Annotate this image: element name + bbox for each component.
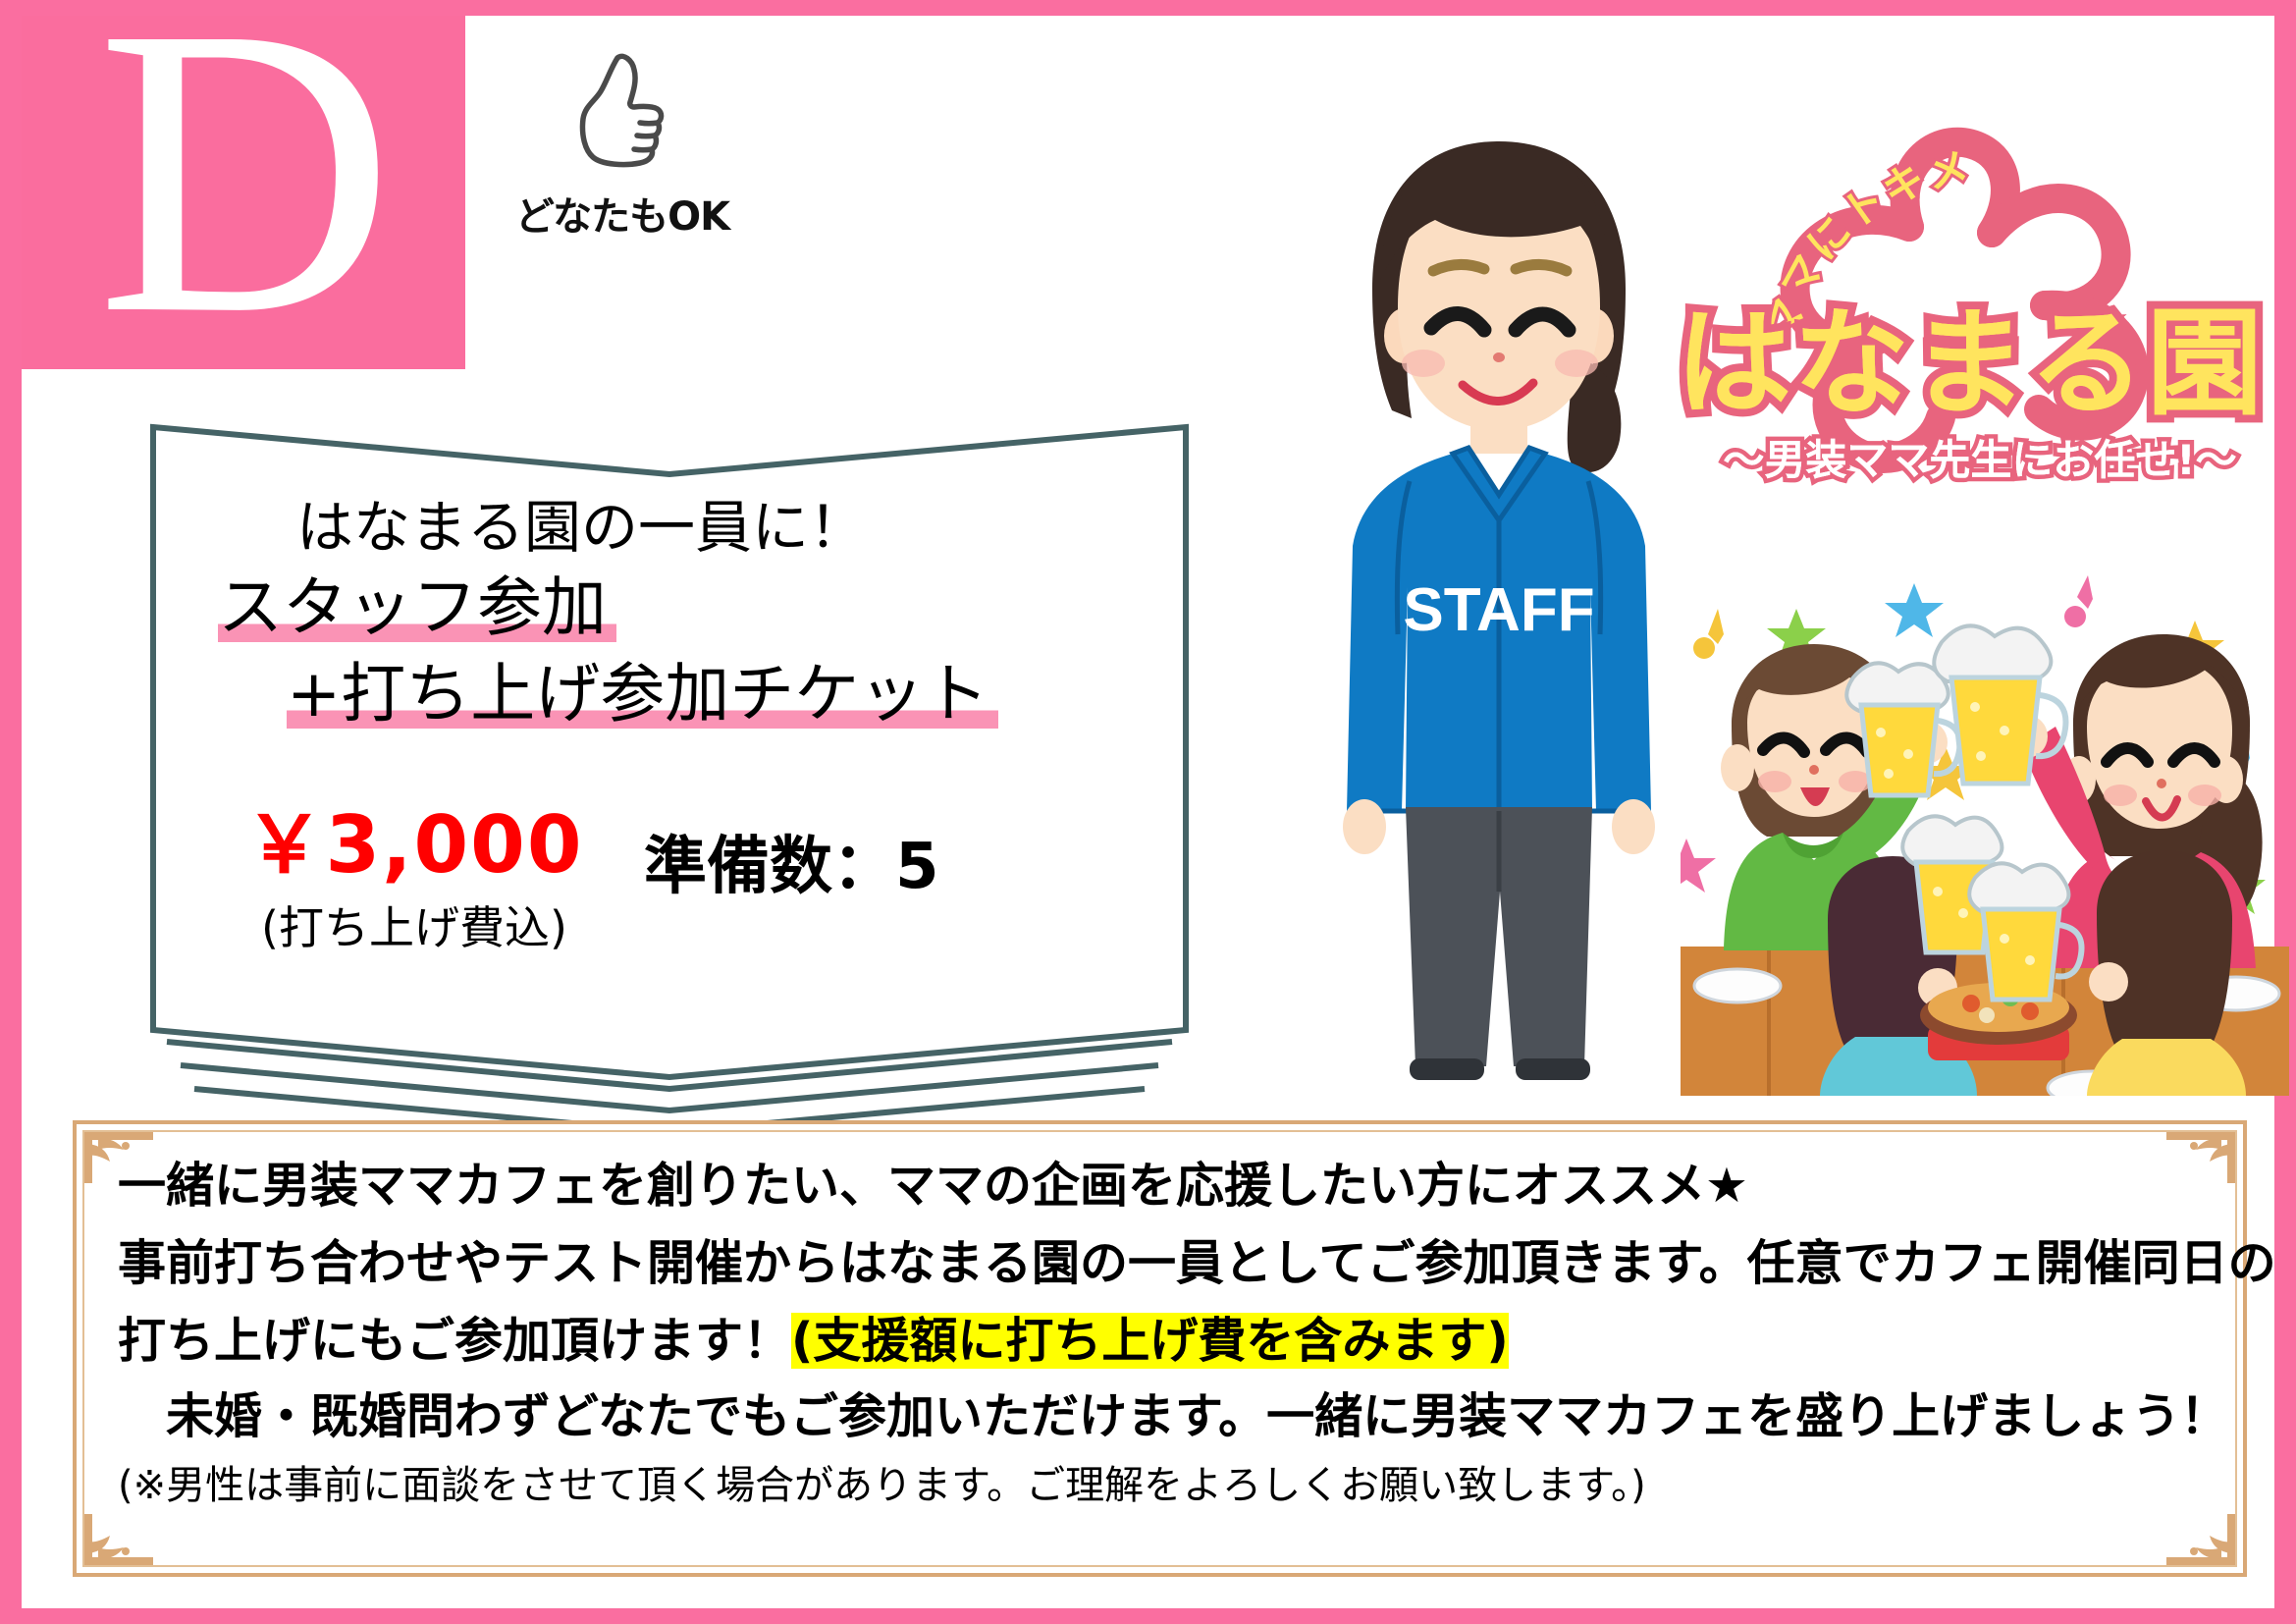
- ticket-price-note: (打ち上げ費込): [208, 893, 620, 957]
- ticket-card: はなまる園の一員に！ スタッフ参加 +打ち上げ参加チケット ￥3,000 (打ち…: [139, 413, 1200, 1140]
- ornament-corner-bottom-right: [2155, 1506, 2237, 1567]
- ticket-text-block: はなまる園の一員に！ スタッフ参加 +打ち上げ参加チケット ￥3,000 (打ち…: [139, 413, 1200, 1140]
- eligibility-label: どなたもOK: [515, 185, 729, 242]
- ticket-price-row: ￥3,000 (打ち上げ費込) 準備数：5: [208, 806, 1160, 957]
- poster-page: D どなたもOK: [0, 0, 2296, 1624]
- description-inner: 一緒に男装ママカフェを創りたい、ママの企画を応援したい方にオススメ★ 事前打ち合…: [82, 1130, 2237, 1567]
- ticket-line-2-text: スタッフ参加: [218, 569, 616, 645]
- ticket-line-1: はなまる園の一員に！: [296, 492, 1160, 564]
- ticket-line-2: スタッフ参加: [218, 568, 1160, 649]
- description-line-3-plain: 打ち上げにもご参加頂けます！: [118, 1313, 791, 1369]
- ticket-line-3: +打ち上げ参加チケット: [287, 654, 1160, 735]
- logo-title: はなまる園: [1676, 296, 2265, 431]
- ticket-stock: 準備数：5: [644, 816, 939, 906]
- ornament-corner-top-right: [2155, 1130, 2237, 1191]
- ornament-corner-top-left: [82, 1130, 165, 1191]
- staff-jacket-text: STAFF: [1403, 576, 1594, 644]
- eligibility-block: どなたもOK: [505, 45, 740, 242]
- description-line-3: 打ち上げにもご参加頂けます！(支援額に打ち上げ費を含みます): [118, 1317, 2202, 1365]
- price-column: ￥3,000 (打ち上げ費込): [208, 806, 620, 957]
- description-line-5: (※男性は事前に面談をさせて頂く場合があります。ご理解をよろしくお願い致します。…: [118, 1466, 2202, 1505]
- course-badge: D: [22, 16, 465, 369]
- beer-cheers-illustration: [1681, 575, 2289, 1096]
- hanamaru-logo: ママにトキメキ☆ はなまる園 はなまる園 〜男装ママ先生にお任せ!〜 〜男装ママ…: [1646, 109, 2294, 541]
- ticket-line-3-text: +打ち上げ参加チケット: [287, 656, 998, 731]
- thumbs-up-icon: [571, 45, 673, 183]
- logo-subtitle: 〜男装ママ先生にお任せ!〜: [1723, 436, 2236, 484]
- description-line-4: 未婚・既婚問わずどなたでもご参加いただけます。一緒に男装ママカフェを盛り上げまし…: [118, 1392, 2202, 1440]
- course-letter: D: [96, 16, 390, 340]
- ticket-price: ￥3,000: [208, 806, 620, 885]
- description-line-3-highlight: (支援額に打ち上げ費を含みます): [791, 1313, 1509, 1369]
- party-person-back-right: [2087, 850, 2246, 1096]
- description-box: 一緒に男装ママカフェを創りたい、ママの企画を応援したい方にオススメ★ 事前打ち合…: [73, 1120, 2247, 1577]
- ornament-corner-bottom-left: [82, 1506, 165, 1567]
- poster-canvas: D どなたもOK: [22, 16, 2274, 1608]
- description-line-2: 事前打ち合わせやテスト開催からはなまる園の一員としてご参加頂きます。任意でカフェ…: [118, 1239, 2202, 1287]
- description-line-1: 一緒に男装ママカフェを創りたい、ママの企画を応援したい方にオススメ★: [118, 1162, 2202, 1210]
